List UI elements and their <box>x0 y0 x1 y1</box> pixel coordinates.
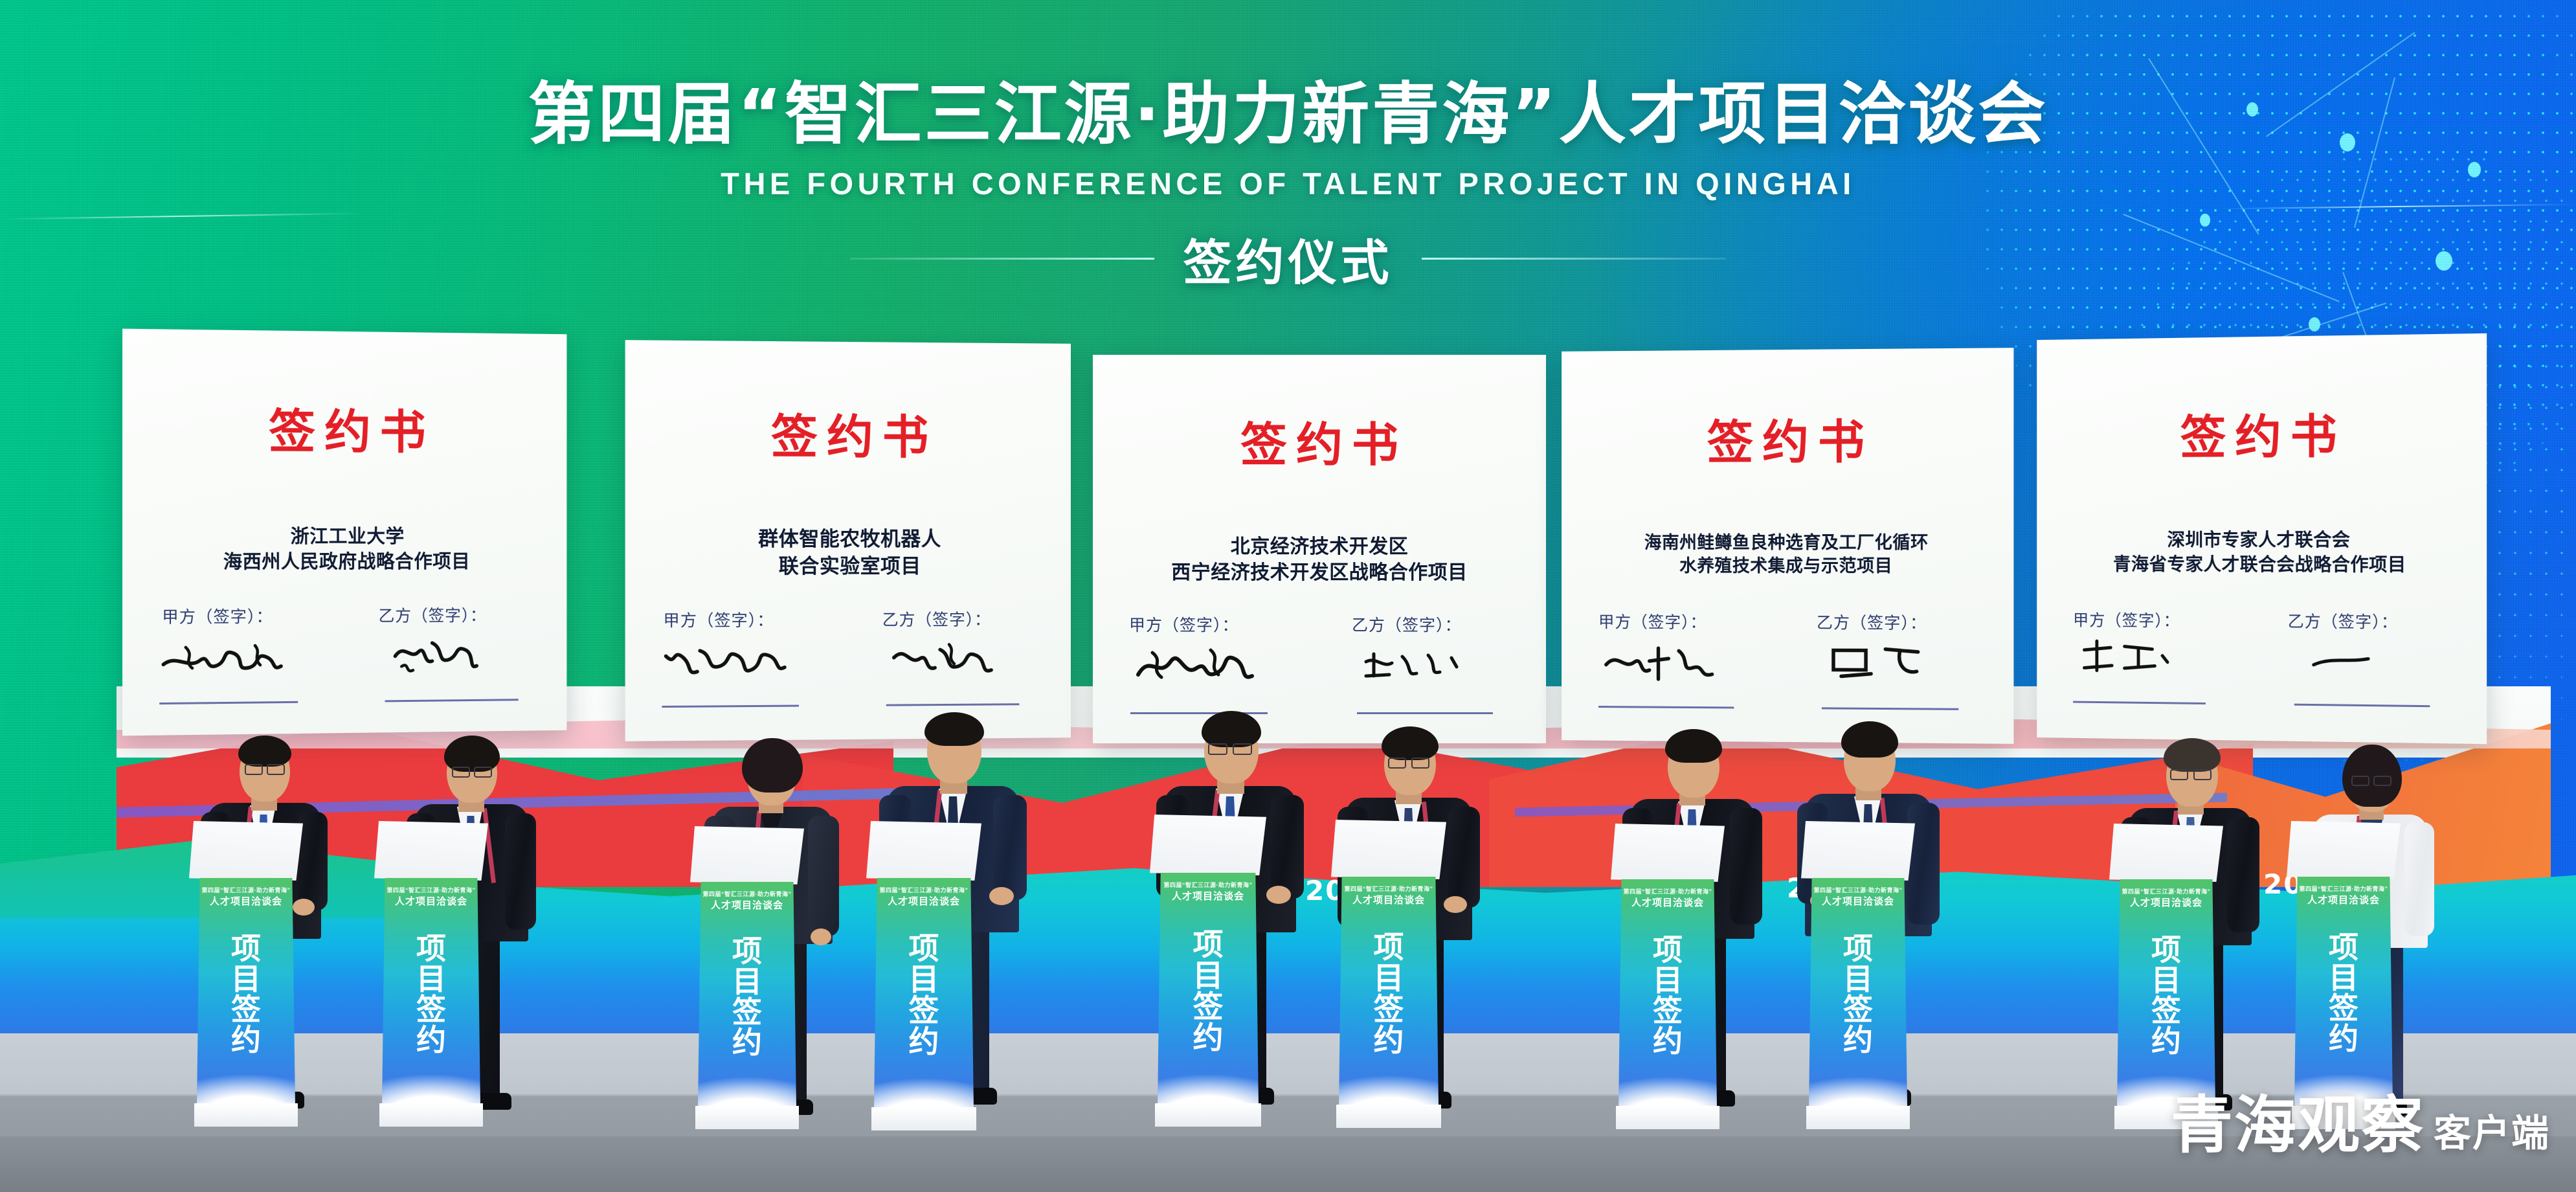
glasses-icon <box>2373 776 2391 786</box>
party-a-signature-block: 甲方（签字）： <box>2037 607 2258 632</box>
podium-event-label: 第四届“智汇三江源·助力新青海” 人才项目洽谈会 <box>1809 886 1907 908</box>
party-b-label: 乙方（签字）： <box>2288 609 2487 633</box>
signing-podium: 第四届“智汇三江源·助力新青海” 人才项目洽谈会 项 目 签 约 <box>194 821 298 1132</box>
podium-event-label: 第四届“智汇三江源·助力新青海” 人才项目洽谈会 <box>874 886 974 908</box>
board-project-line-1: 深圳市专家人才联合会 <box>2037 528 2487 552</box>
glasses-icon <box>245 764 263 775</box>
podium-event-label: 第四届“智汇三江源·助力新青海” 人才项目洽谈会 <box>1618 887 1717 909</box>
party-b-signature-block: 乙方（签字）： <box>348 602 566 627</box>
podium-snow-graphic <box>1339 1054 1439 1107</box>
podium-snow-graphic <box>197 1053 295 1106</box>
person-hair <box>1202 711 1261 747</box>
board-project-line-1: 浙江工业大学 <box>122 524 566 549</box>
podium-event-label: 第四届“智汇三江源·助力新青海” 人才项目洽谈会 <box>2294 884 2393 906</box>
signing-podium: 第四届“智汇三江源·助力新青海” 人才项目洽谈会 项 目 签 约 <box>1806 821 1910 1134</box>
party-a-label: 甲方（签字）： <box>663 607 850 631</box>
party-b-signature-ink <box>2306 646 2384 676</box>
podium-snow-graphic <box>382 1053 480 1106</box>
party-a-signature-line <box>662 705 799 708</box>
glasses-icon <box>474 767 492 778</box>
podium-snow-graphic <box>874 1057 974 1110</box>
podium-vertical-label: 项 目 签 约 <box>2294 932 2393 1054</box>
party-a-signature-block: 甲方（签字）： <box>1562 609 1786 633</box>
person-hair <box>1382 726 1439 760</box>
podium-snow-graphic <box>1618 1055 1717 1108</box>
board-heading: 签约书 <box>625 398 1071 467</box>
signing-podium: 第四届“智汇三江源·助力新青海” 人才项目洽谈会 项 目 签 约 <box>1155 815 1261 1132</box>
signing-podium: 第四届“智汇三江源·助力新青海” 人才项目洽谈会 项 目 签 约 <box>695 826 799 1134</box>
person-hair <box>1665 729 1722 763</box>
person-hair <box>1841 721 1898 758</box>
party-a-label: 甲方（签字）： <box>1598 609 1786 633</box>
party-b-label: 乙方（签字）： <box>379 602 567 626</box>
party-b-signature-ink <box>888 635 1003 685</box>
party-b-signature-ink <box>1361 645 1471 685</box>
board-heading: 签约书 <box>1093 407 1546 475</box>
party-a-signature-block: 甲方（签字）： <box>625 607 850 631</box>
party-a-signature-ink <box>1133 640 1262 692</box>
party-b-signature-block: 乙方（签字）： <box>1786 610 2013 634</box>
watermark-suffix: 客户端 <box>2434 1103 2550 1165</box>
party-b-label: 乙方（签字）： <box>882 607 1071 631</box>
party-b-signature-block: 乙方（签字）： <box>850 607 1071 631</box>
board-heading: 签约书 <box>122 392 566 463</box>
podium-snow-graphic <box>1809 1055 1907 1108</box>
person-hair <box>2342 745 2402 807</box>
signing-podium: 第四届“智汇三江源·助力新青海” 人才项目洽谈会 项 目 签 约 <box>1336 820 1441 1134</box>
glasses-icon <box>2170 769 2188 780</box>
party-a-signature-line <box>2073 701 2206 704</box>
board-project-line-2: 水养殖技术集成与示范项目 <box>1562 555 2013 579</box>
party-b-signature-line <box>886 703 1020 706</box>
party-b-signature-line <box>385 699 519 702</box>
party-b-signature-line <box>2294 704 2430 708</box>
podium-vertical-label: 项 目 签 约 <box>698 936 796 1058</box>
signing-board: 签约书 群体智能农牧机器人 联合实验室项目 甲方（签字）： 乙方（签字）： <box>625 340 1071 741</box>
signing-podium: 第四届“智汇三江源·助力新青海” 人才项目洽谈会 项 目 签 约 <box>1616 824 1719 1134</box>
podium-event-label: 第四届“智汇三江源·助力新青海” 人才项目洽谈会 <box>2117 887 2215 909</box>
party-a-signature-line <box>1598 706 1734 708</box>
board-heading: 签约书 <box>1562 403 2013 473</box>
party-a-signature-ink <box>2078 636 2173 682</box>
watermark-brand-text: 青海观察 <box>2171 1075 2425 1165</box>
party-a-signature-ink <box>660 636 791 686</box>
glasses-icon <box>267 764 285 775</box>
party-a-signature-block: 甲方（签字）： <box>122 603 348 628</box>
podium-event-label: 第四届“智汇三江源·助力新青海” 人才项目洽谈会 <box>1158 881 1259 903</box>
board-heading: 签约书 <box>2037 396 2487 467</box>
podium-vertical-label: 项 目 签 约 <box>197 934 295 1055</box>
board-project-line-1: 北京经济技术开发区 <box>1093 534 1546 560</box>
person-hair <box>924 712 984 746</box>
party-a-label: 甲方（签字）： <box>2073 608 2258 632</box>
podium-vertical-label: 项 目 签 约 <box>1339 932 1439 1057</box>
glasses-icon <box>1411 758 1429 769</box>
glasses-icon <box>1208 743 1227 755</box>
board-project-line-1: 群体智能农牧机器人 <box>625 526 1071 554</box>
board-project-line-2: 青海省专家人才联合会战略合作项目 <box>2037 552 2487 577</box>
podium-vertical-label: 项 目 签 约 <box>382 934 480 1055</box>
podium-event-label: 第四届“智汇三江源·助力新青海” 人才项目洽谈会 <box>197 886 295 908</box>
party-a-signature-line <box>159 701 298 704</box>
board-project-line-2: 联合实验室项目 <box>625 553 1071 580</box>
party-b-signature-ink <box>388 630 484 681</box>
signing-board: 签约书 浙江工业大学 海西州人民政府战略合作项目 甲方（签字）： 乙方（签字）： <box>122 329 566 736</box>
party-b-signature-line <box>1357 712 1493 714</box>
watermark-brand: 青海观察 <box>2171 1075 2425 1165</box>
podium-snow-graphic <box>1158 1053 1259 1106</box>
signing-podium: 第四届“智汇三江源·助力新青海” 人才项目洽谈会 项 目 签 约 <box>871 821 976 1136</box>
party-a-signature-block: 甲方（签字）： <box>1093 613 1319 636</box>
glasses-icon <box>2193 769 2212 780</box>
party-b-label: 乙方（签字）： <box>1352 613 1546 636</box>
podium-event-label: 第四届“智汇三江源·助力新青海” 人才项目洽谈会 <box>1339 884 1439 906</box>
party-a-signature-ink <box>157 634 294 683</box>
person-hair <box>2164 738 2221 772</box>
signing-board: 签约书 海南州鲑鳟鱼良种选育及工厂化循环 水养殖技术集成与示范项目 甲方（签字）… <box>1562 348 2013 744</box>
party-a-label: 甲方（签字）： <box>162 603 348 628</box>
party-a-signature-ink <box>1602 639 1724 688</box>
signing-podium: 第四届“智汇三江源·助力新青海” 人才项目洽谈会 项 目 签 约 <box>379 821 483 1132</box>
board-project-line-2: 海西州人民政府战略合作项目 <box>122 549 566 575</box>
party-b-signature-line <box>1822 707 1958 710</box>
podium-vertical-label: 项 目 签 约 <box>1158 930 1259 1054</box>
party-b-signature-ink <box>1826 640 1930 688</box>
podium-vertical-label: 项 目 签 约 <box>1618 935 1717 1057</box>
signing-board: 签约书 北京经济技术开发区 西宁经济技术开发区战略合作项目 甲方（签字）： 乙方… <box>1093 355 1546 743</box>
podium-vertical-label: 项 目 签 约 <box>874 934 974 1058</box>
party-b-signature-block: 乙方（签字）： <box>1319 613 1546 636</box>
party-b-signature-block: 乙方（签字）： <box>2258 609 2487 633</box>
signing-board: 签约书 深圳市专家人才联合会 青海省专家人才联合会战略合作项目 甲方（签字）： … <box>2037 333 2487 744</box>
watermark-logo: 青海观察 客户端 <box>2171 1075 2550 1165</box>
party-a-label: 甲方（签字）： <box>1129 613 1319 636</box>
person-hair <box>444 736 500 772</box>
podium-snow-graphic <box>698 1055 796 1108</box>
glasses-icon <box>452 767 470 778</box>
photo-stage: 第四届“智汇三江源·助力新青海”人才项目洽谈会 THE FOURTH CONFE… <box>0 0 2576 1192</box>
board-project-line-2: 西宁经济技术开发区战略合作项目 <box>1093 560 1546 586</box>
glasses-icon <box>1388 758 1406 769</box>
glasses-icon <box>2351 776 2369 786</box>
glasses-icon <box>1233 743 1252 755</box>
person-hair <box>238 736 291 767</box>
podium-vertical-label: 项 目 签 约 <box>1809 934 1907 1055</box>
person-hair <box>742 738 803 793</box>
podium-event-label: 第四届“智汇三江源·助力新青海” 人才项目洽谈会 <box>698 890 796 912</box>
board-project-line-1: 海南州鲑鳟鱼良种选育及工厂化循环 <box>1562 532 2013 556</box>
podium-vertical-label: 项 目 签 约 <box>2117 935 2215 1057</box>
podium-event-label: 第四届“智汇三江源·助力新青海” 人才项目洽谈会 <box>382 886 480 908</box>
party-b-label: 乙方（签字）： <box>1817 610 2014 634</box>
